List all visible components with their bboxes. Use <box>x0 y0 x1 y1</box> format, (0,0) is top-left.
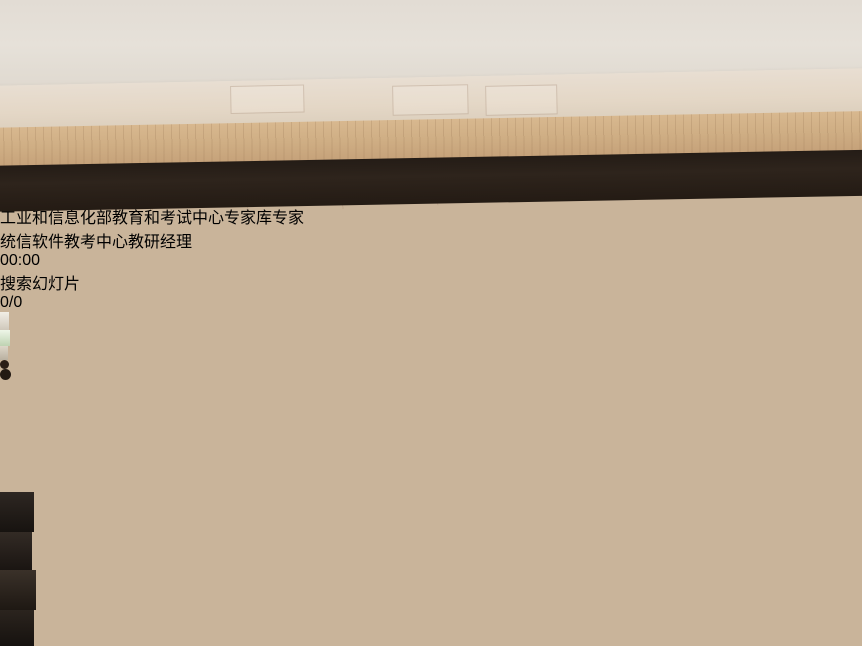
back-wall <box>0 206 862 646</box>
ceiling-tile <box>230 84 305 113</box>
ceiling-tile <box>485 84 558 115</box>
ceiling-tile <box>392 84 469 116</box>
lecture-hall-photo: EPSON 工 学 院 创国芯国魂·铸科技强国 信息技术应用创新大讲堂 龙腾中科 <box>0 0 862 646</box>
